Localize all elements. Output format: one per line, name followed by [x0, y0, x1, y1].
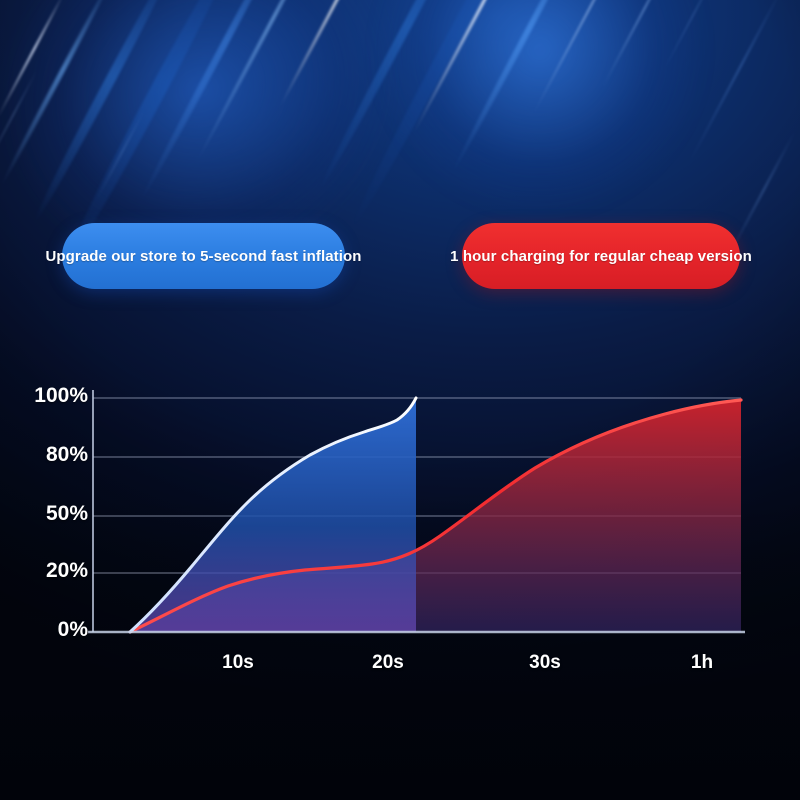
y-tick-80: 80% [0, 443, 88, 467]
charging-curve-chart: 100% 80% 50% 20% 0% 10s 20s 30s 1h [0, 340, 800, 680]
chart-svg [0, 340, 800, 680]
x-tick-20s: 20s [348, 652, 428, 674]
fast-charge-badge[interactable]: Upgrade our store to 5-second fast infla… [62, 223, 345, 289]
slow-charge-badge[interactable]: 1 hour charging for regular cheap versio… [462, 223, 740, 289]
fast-charge-area [130, 398, 416, 632]
x-tick-10s: 10s [198, 652, 278, 674]
fast-charge-badge-label: Upgrade our store to 5-second fast infla… [45, 248, 361, 265]
infographic-canvas: Upgrade our store to 5-second fast infla… [0, 0, 800, 800]
x-tick-30s: 30s [505, 652, 585, 674]
y-tick-20: 20% [0, 559, 88, 583]
slow-charge-badge-label: 1 hour charging for regular cheap versio… [450, 248, 752, 265]
y-tick-100: 100% [0, 384, 88, 408]
y-tick-0: 0% [0, 618, 88, 642]
y-tick-50: 50% [0, 502, 88, 526]
x-tick-1h: 1h [662, 652, 742, 674]
